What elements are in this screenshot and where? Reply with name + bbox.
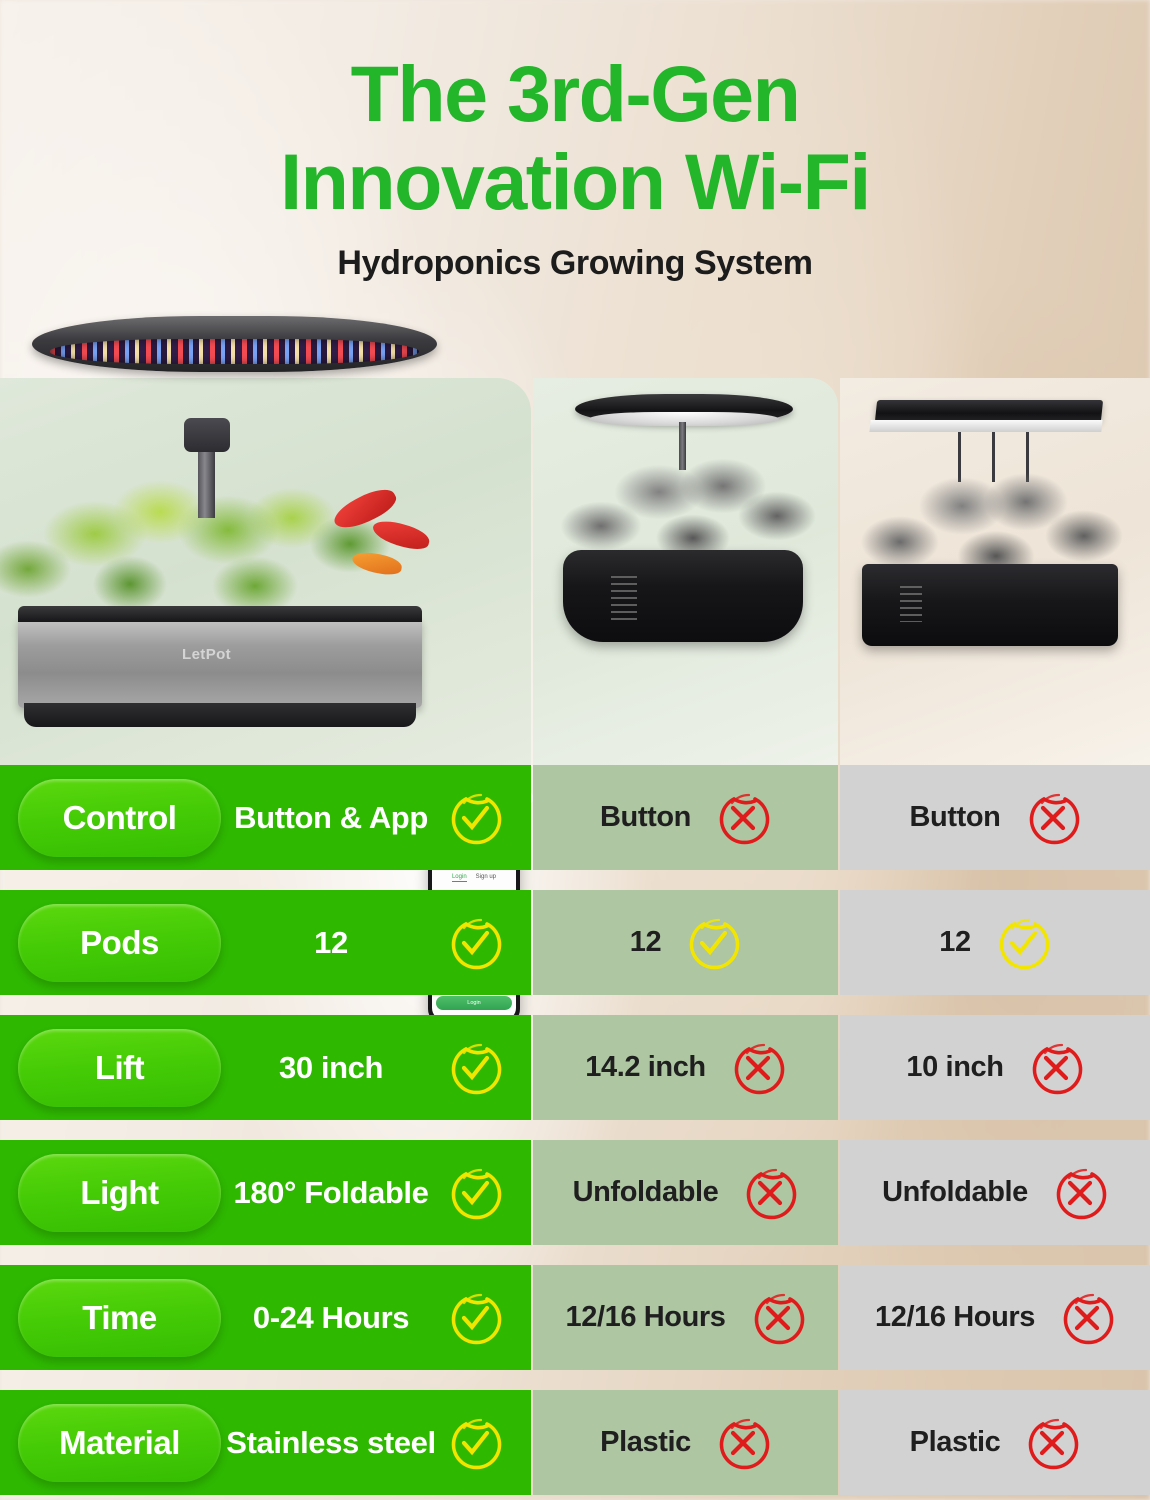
competitor-1-value: 12/16 Hours xyxy=(565,1301,725,1334)
cross-icon xyxy=(750,1290,806,1346)
featured-value: 0-24 Hours xyxy=(221,1300,447,1336)
competitor-2-value: Plastic xyxy=(910,1426,1001,1459)
featured-product-cell: Light180° Foldable xyxy=(0,1140,531,1245)
cross-icon xyxy=(1024,1415,1080,1471)
competitor-2-value: Button xyxy=(909,801,1000,834)
row-label-material: Material xyxy=(18,1404,221,1482)
unit-base xyxy=(24,703,416,727)
table-row: Time0-24 Hours12/16 Hours12/16 Hours xyxy=(0,1265,1150,1370)
competitor-1-value: Button xyxy=(600,801,691,834)
competitor-2-cell: 12 xyxy=(840,890,1150,995)
competitor-2-value: 10 inch xyxy=(906,1051,1003,1084)
row-label-pods: Pods xyxy=(18,904,221,982)
check-icon xyxy=(447,1290,503,1346)
row-label-time: Time xyxy=(18,1279,221,1357)
competitor-2-panel xyxy=(840,378,1150,765)
featured-product-panel: LetPot xyxy=(0,378,531,765)
competitor-2-lamp-hood xyxy=(875,400,1103,422)
cross-icon xyxy=(1059,1290,1115,1346)
competitor-2-cell: 12/16 Hours xyxy=(840,1265,1150,1370)
competitor-2-cell: Plastic xyxy=(840,1390,1150,1495)
competitor-1-cell: Plastic xyxy=(533,1390,838,1495)
page-title-line-2: Innovation Wi-Fi xyxy=(0,138,1150,226)
competitor-1-panel xyxy=(533,378,838,765)
cross-icon xyxy=(715,790,771,846)
competitor-1-plastic-body xyxy=(563,550,803,642)
table-row: Pods121212 xyxy=(0,890,1150,995)
competitor-2-product-photo xyxy=(840,378,1150,765)
competitor-1-cell: Unfoldable xyxy=(533,1140,838,1245)
header: The 3rd-Gen Innovation Wi-Fi Hydroponics… xyxy=(0,0,1150,300)
competitor-1-value: 14.2 inch xyxy=(585,1051,706,1084)
check-icon xyxy=(447,790,503,846)
featured-product-cell: MaterialStainless steel xyxy=(0,1390,531,1495)
product-brand-logo: LetPot xyxy=(182,646,231,663)
row-label-lift: Lift xyxy=(18,1029,221,1107)
light-height-joint xyxy=(184,418,230,452)
check-icon xyxy=(447,1415,503,1471)
table-row: Lift30 inch14.2 inch10 inch xyxy=(0,1015,1150,1120)
featured-value: 180° Foldable xyxy=(221,1175,447,1211)
featured-value: 12 xyxy=(221,925,447,961)
featured-value: 30 inch xyxy=(221,1050,447,1086)
cross-icon xyxy=(742,1165,798,1221)
competitor-1-control-panel xyxy=(611,576,637,620)
competitor-1-cell: 14.2 inch xyxy=(533,1015,838,1120)
competitor-1-cell: Button xyxy=(533,765,838,870)
competitor-1-product-photo xyxy=(533,378,838,765)
check-icon xyxy=(447,915,503,971)
check-icon xyxy=(447,1040,503,1096)
check-icon xyxy=(447,1165,503,1221)
unit-top-lip xyxy=(18,606,422,622)
cross-icon xyxy=(715,1415,771,1471)
competitor-2-value: Unfoldable xyxy=(882,1176,1028,1209)
check-icon xyxy=(685,915,741,971)
table-row: MaterialStainless steelPlasticPlastic xyxy=(0,1390,1150,1495)
competitor-2-cell: 10 inch xyxy=(840,1015,1150,1120)
competitor-1-value: Plastic xyxy=(600,1426,691,1459)
cross-icon xyxy=(1052,1165,1108,1221)
table-row: ControlButton & AppButtonButton xyxy=(0,765,1150,870)
competitor-2-value: 12 xyxy=(939,926,970,959)
cross-icon xyxy=(730,1040,786,1096)
competitor-2-lamp-face xyxy=(869,420,1102,432)
featured-value: Button & App xyxy=(221,800,447,836)
competitor-1-cell: 12 xyxy=(533,890,838,995)
featured-product-cell: Time0-24 Hours xyxy=(0,1265,531,1370)
led-diode-strip xyxy=(50,339,419,364)
cross-icon xyxy=(1028,1040,1084,1096)
featured-value: Stainless steel xyxy=(221,1425,447,1461)
featured-product-cell: ControlButton & App xyxy=(0,765,531,870)
table-row: Light180° FoldableUnfoldableUnfoldable xyxy=(0,1140,1150,1245)
featured-product-cell: Pods12 xyxy=(0,890,531,995)
competitor-1-cell: 12/16 Hours xyxy=(533,1265,838,1370)
cross-icon xyxy=(1025,790,1081,846)
row-label-control: Control xyxy=(18,779,221,857)
featured-product-cell: Lift30 inch xyxy=(0,1015,531,1120)
product-image-strip: LetPot LetPot Login Sign up jon@letpot.c… xyxy=(0,300,1150,765)
comparison-table: ControlButton & AppButtonButtonPods12121… xyxy=(0,765,1150,1495)
check-icon xyxy=(995,915,1051,971)
led-grow-light-bar xyxy=(32,316,437,372)
competitor-1-value: 12 xyxy=(630,926,661,959)
competitor-2-value: 12/16 Hours xyxy=(875,1301,1035,1334)
page-title-line-1: The 3rd-Gen xyxy=(0,0,1150,138)
page-subtitle: Hydroponics Growing System xyxy=(0,226,1150,283)
competitor-2-foliage xyxy=(856,452,1128,582)
competitor-2-cell: Button xyxy=(840,765,1150,870)
row-label-light: Light xyxy=(18,1154,221,1232)
competitor-2-cell: Unfoldable xyxy=(840,1140,1150,1245)
competitor-1-value: Unfoldable xyxy=(573,1176,719,1209)
competitor-1-foliage xyxy=(555,440,819,562)
competitor-2-control-panel xyxy=(900,586,922,622)
